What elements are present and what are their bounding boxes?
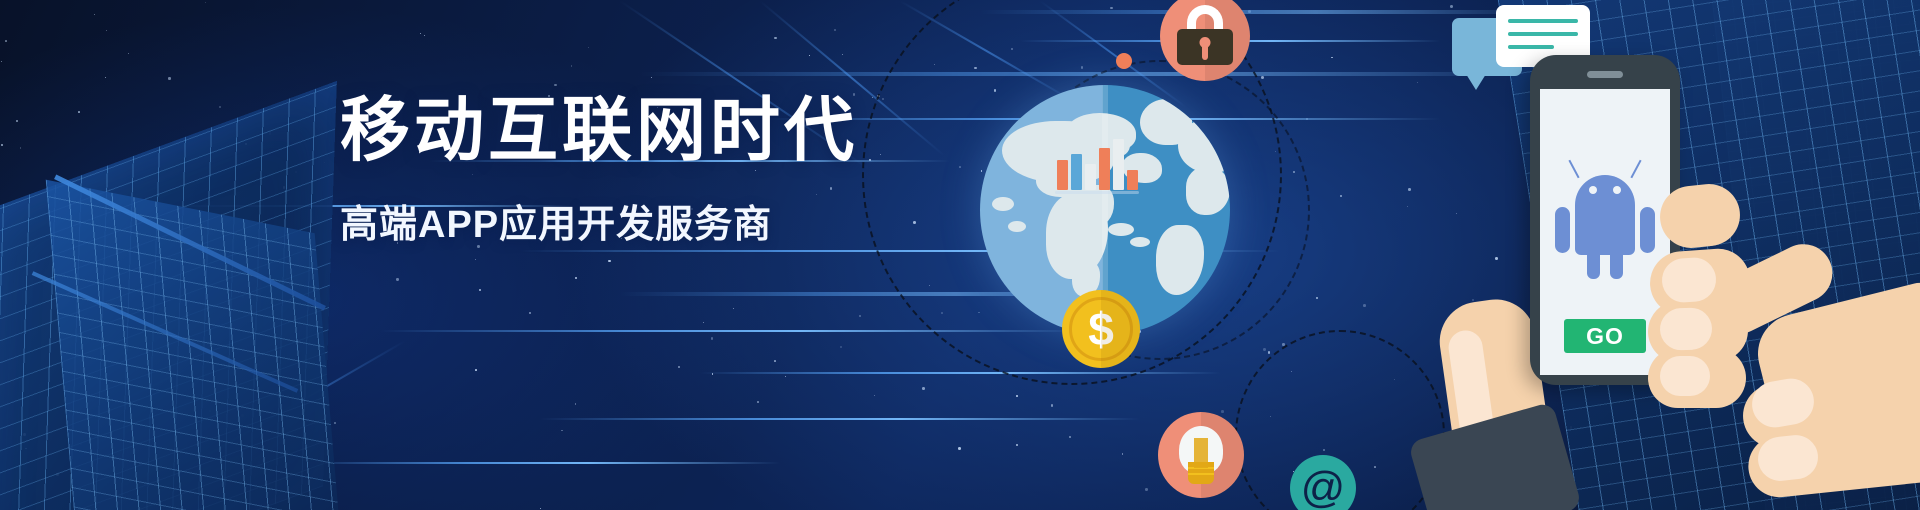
page-title: 移动互联网时代 [340,95,858,165]
chart-bar [1085,164,1096,190]
at-sign-glyph: @ [1301,463,1346,510]
fingernail-pinky [1660,356,1710,396]
chart-bar [1071,154,1082,190]
hero-banner: $ @ [0,0,1920,510]
lock-icon [1160,0,1250,81]
page-subtitle: 高端APP应用开发服务商 [340,193,858,248]
phone-speaker [1587,71,1623,78]
android-robot-icon [1553,159,1657,279]
chat-bubble-back-tail [1466,74,1486,90]
orange-dot-accent [1116,53,1132,69]
go-button[interactable]: GO [1564,319,1646,353]
chart-bar [1099,148,1110,190]
chart-bar [1127,170,1138,190]
bar-chart-icon [1055,130,1139,200]
chart-bar [1113,139,1124,190]
chart-bar [1057,160,1068,190]
banner-copy: 移动互联网时代 高端APP应用开发服务商 [340,95,858,248]
fingernail-ring [1659,307,1712,351]
dollar-coin-icon: $ [1062,290,1140,368]
lightbulb-icon [1158,412,1244,498]
